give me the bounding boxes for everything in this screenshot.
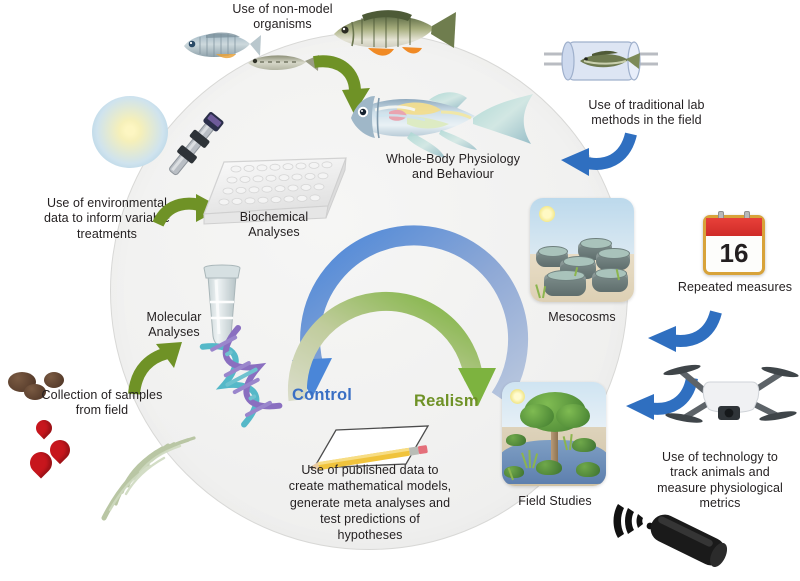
- respirometry-chamber-icon: [540, 36, 662, 90]
- repeated-measures-label: Repeated measures: [675, 280, 795, 295]
- blue-arrow-in-repeated-measures: [640, 300, 722, 350]
- field-studies-label: Field Studies: [500, 494, 610, 509]
- figure-canvas: Control Realism Use of non-model organis…: [0, 0, 800, 581]
- drone-icon: [666, 348, 796, 424]
- faeces-sample-icon-3: [44, 372, 64, 388]
- modelling-label: Use of published data to create mathemat…: [254, 462, 486, 543]
- mesocosms-label: Mesocosms: [522, 310, 642, 325]
- biochemical-analyses-label: Biochemical Analyses: [212, 210, 336, 241]
- sample-collection-label: Collection of samples from field: [22, 388, 182, 419]
- blue-arrow-in-lab-methods: [553, 126, 639, 176]
- calendar-day: 16: [706, 234, 762, 272]
- traditional-lab-methods-label: Use of traditional lab methods in the fi…: [559, 98, 734, 129]
- zebrafish-anatomy-icon: [345, 82, 535, 162]
- realism-label: Realism: [414, 392, 479, 411]
- control-label: Control: [292, 386, 352, 405]
- sun-icon: [92, 96, 168, 168]
- mesocosm-tanks-photo: [530, 198, 634, 302]
- dna-helix-icon: [196, 330, 288, 426]
- field-landscape-photo: [502, 382, 606, 486]
- plant-sample-icon: [82, 420, 198, 520]
- whole-body-physiology-label: Whole-Body Physiology and Behaviour: [368, 152, 538, 183]
- acoustic-tag-icon: [612, 500, 738, 566]
- perch-fish-icon: [328, 2, 458, 64]
- blood-drop-icon-1: [33, 417, 56, 440]
- calendar-icon: 16: [703, 215, 765, 275]
- control-realism-arrows: [268, 248, 524, 438]
- molecular-analyses-label: Molecular Analyses: [128, 310, 220, 341]
